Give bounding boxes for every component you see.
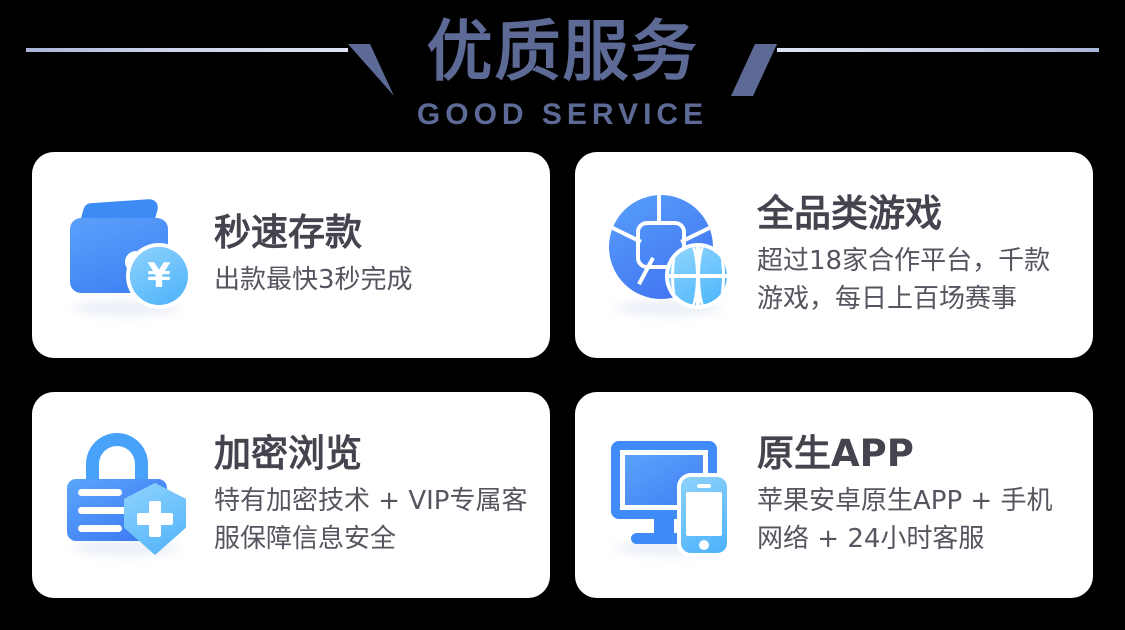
- phone-icon: [681, 477, 727, 553]
- cross-bar: [137, 513, 173, 525]
- page-header: 优质服务 GOOD SERVICE: [0, 0, 1125, 150]
- feature-card-text: 原生APP 苹果安卓原生APP + 手机网络 + 24小时客服: [757, 432, 1075, 558]
- card-description: 出款最快3秒完成: [214, 261, 532, 299]
- phone-speaker: [697, 484, 711, 488]
- feature-card-encryption[interactable]: 加密浏览 特有加密技术 + VIP专属客服保障信息安全: [32, 392, 550, 598]
- soccer-seam: [680, 222, 713, 243]
- card-description: 特有加密技术 + VIP专属客服保障信息安全: [214, 482, 532, 558]
- soccer-seam: [657, 195, 661, 225]
- feature-card-text: 秒速存款 出款最快3秒完成: [214, 211, 532, 299]
- feature-card-games[interactable]: 全品类游戏 超过18家合作平台，千款游戏，每日上百场赛事: [575, 152, 1093, 358]
- card-description: 苹果安卓原生APP + 手机网络 + 24小时客服: [757, 482, 1075, 558]
- feature-card-text: 加密浏览 特有加密技术 + VIP专属客服保障信息安全: [214, 432, 532, 558]
- lock-line: [78, 525, 122, 532]
- feature-card-native-app[interactable]: 原生APP 苹果安卓原生APP + 手机网络 + 24小时客服: [575, 392, 1093, 598]
- card-title: 秒速存款: [214, 211, 532, 255]
- card-title: 加密浏览: [214, 432, 532, 476]
- card-title: 原生APP: [757, 432, 1075, 476]
- page-title: 优质服务: [0, 4, 1125, 100]
- page-subtitle: GOOD SERVICE: [0, 98, 1125, 132]
- basketball-seam: [697, 247, 725, 305]
- basketball-seam: [671, 247, 699, 305]
- card-description: 超过18家合作平台，千款游戏，每日上百场赛事: [757, 242, 1075, 318]
- phone-home-button: [699, 540, 709, 550]
- phone-screen: [686, 492, 722, 536]
- feature-card-grid: ¥ 秒速存款 出款最快3秒完成 全品类游: [32, 152, 1093, 598]
- yen-coin-icon: ¥: [130, 247, 188, 305]
- card-title: 全品类游戏: [757, 192, 1075, 236]
- soccer-basketball-icon: [605, 185, 745, 325]
- basketball-icon: [669, 247, 727, 305]
- wallet-coin-icon: ¥: [62, 185, 202, 325]
- feature-card-text: 全品类游戏 超过18家合作平台，千款游戏，每日上百场赛事: [757, 192, 1075, 318]
- soccer-seam: [609, 222, 642, 243]
- monitor-phone-icon: [605, 425, 745, 565]
- feature-card-deposit[interactable]: ¥ 秒速存款 出款最快3秒完成: [32, 152, 550, 358]
- lock-shield-icon: [62, 425, 202, 565]
- lock-line: [78, 489, 122, 496]
